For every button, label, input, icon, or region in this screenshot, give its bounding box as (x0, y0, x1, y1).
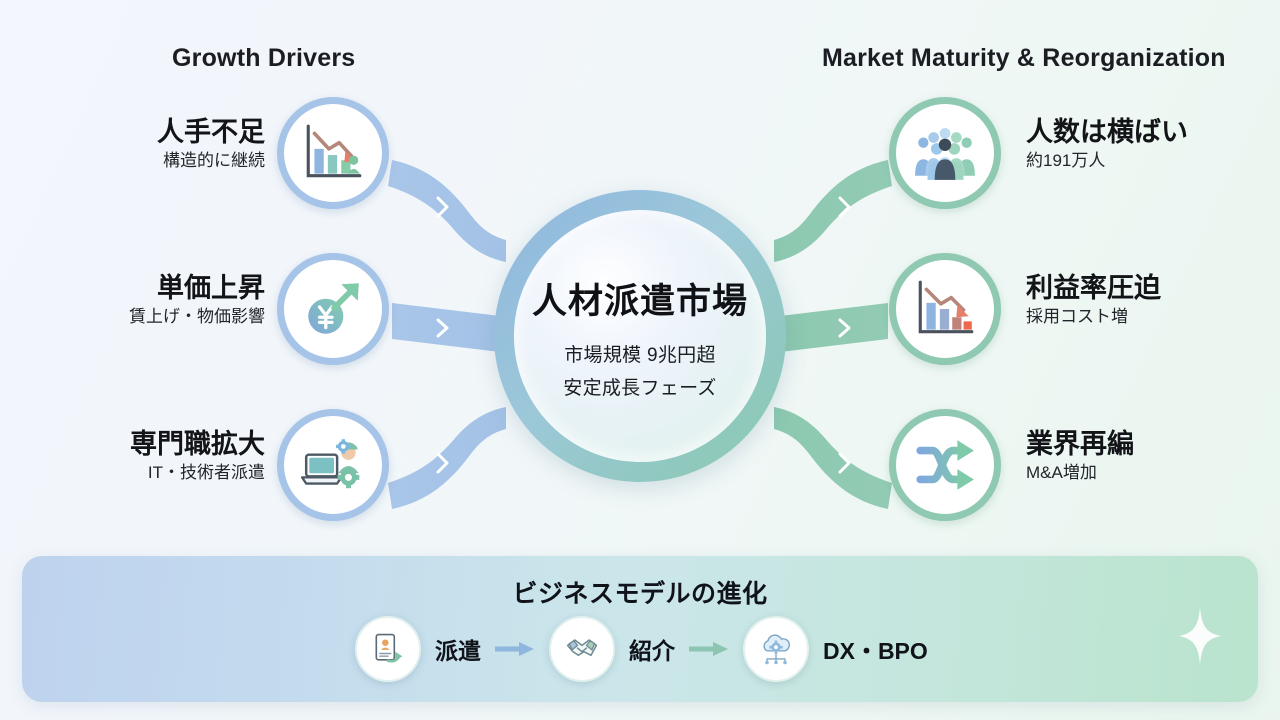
node-right-margin-pressure[interactable] (889, 253, 1001, 365)
hub-title: 人材派遣市場 (532, 273, 748, 324)
node-title: 単価上昇 (129, 273, 265, 304)
sparkle-icon (1178, 608, 1222, 664)
central-hub-inner: 人材派遣市場 市場規模 9兆円超 安定成長フェーズ (514, 210, 766, 462)
node-title: 人手不足 (157, 117, 265, 148)
node-subtitle: M&A増加 (1026, 463, 1134, 483)
chevron-icon (438, 198, 447, 216)
node-title: 専門職拡大 (130, 429, 265, 460)
chevron-icon (438, 454, 447, 472)
node-subtitle: 約191万人 (1026, 151, 1188, 171)
business-model-flow: 派遣 紹介 (355, 616, 928, 682)
yen-arrow-up-icon (300, 276, 366, 342)
cloud-gear-icon (758, 631, 794, 667)
handshake-icon (564, 631, 600, 667)
hub-subtitle-1: 市場規模 9兆円超 (564, 340, 716, 367)
connector-left-middle (392, 303, 500, 352)
flow-step-dx-bpo[interactable] (743, 616, 809, 682)
flow-label-referral: 紹介 (629, 632, 675, 666)
chevron-icon (438, 320, 447, 336)
flow-label-dispatch: 派遣 (435, 632, 481, 666)
hub-subtitle-2: 安定成長フェーズ (563, 373, 716, 400)
label-left-unit-price: 単価上昇 賃上げ・物価影響 (129, 273, 265, 327)
node-left-specialist-growth[interactable] (277, 409, 389, 521)
label-right-industry-consolidation: 業界再編 M&A増加 (1026, 429, 1134, 483)
label-left-specialist-growth: 専門職拡大 IT・技術者派遣 (130, 429, 265, 483)
connector-right-middle (780, 303, 888, 352)
connector-left-top (388, 160, 506, 262)
node-right-industry-consolidation[interactable] (889, 409, 1001, 521)
node-subtitle: 採用コスト増 (1026, 307, 1161, 327)
chevron-icon (840, 198, 849, 216)
connector-right-bottom (774, 407, 892, 509)
chevron-icon (840, 320, 849, 336)
label-left-labor-shortage: 人手不足 構造的に継続 (157, 117, 265, 171)
node-left-labor-shortage[interactable] (277, 97, 389, 209)
central-hub: 人材派遣市場 市場規模 9兆円超 安定成長フェーズ (494, 190, 786, 482)
flow-step-dispatch[interactable] (355, 616, 421, 682)
flow-arrow-icon (495, 641, 535, 657)
flow-step-referral[interactable] (549, 616, 615, 682)
flow-label-dx-bpo: DX・BPO (823, 632, 928, 666)
label-right-margin-pressure: 利益率圧迫 採用コスト増 (1026, 273, 1161, 327)
node-title: 利益率圧迫 (1026, 273, 1161, 304)
node-subtitle: 構造的に継続 (157, 151, 265, 171)
people-group-icon (912, 120, 978, 186)
flow-arrow-icon (689, 641, 729, 657)
label-right-headcount-flat: 人数は横ばい 約191万人 (1026, 117, 1188, 171)
resume-dispatch-icon (370, 631, 406, 667)
node-right-headcount-flat[interactable] (889, 97, 1001, 209)
node-subtitle: 賃上げ・物価影響 (129, 307, 265, 327)
node-subtitle: IT・技術者派遣 (130, 463, 265, 483)
business-model-banner: ビジネスモデルの進化 派遣 (22, 556, 1258, 702)
right-column-header: Market Maturity & Reorganization (822, 44, 1226, 73)
connector-left-bottom (388, 407, 506, 509)
shuffle-arrows-icon (912, 432, 978, 498)
banner-title: ビジネスモデルの進化 (22, 574, 1258, 610)
declining-chart-with-person-icon (300, 120, 366, 186)
chevron-icon (840, 454, 849, 472)
connector-right-top (774, 160, 892, 262)
laptop-engineer-gears-icon (300, 432, 366, 498)
node-title: 人数は横ばい (1026, 117, 1188, 148)
node-left-unit-price[interactable] (277, 253, 389, 365)
left-column-header: Growth Drivers (172, 44, 355, 73)
declining-bar-chart-icon (912, 276, 978, 342)
node-title: 業界再編 (1026, 429, 1134, 460)
